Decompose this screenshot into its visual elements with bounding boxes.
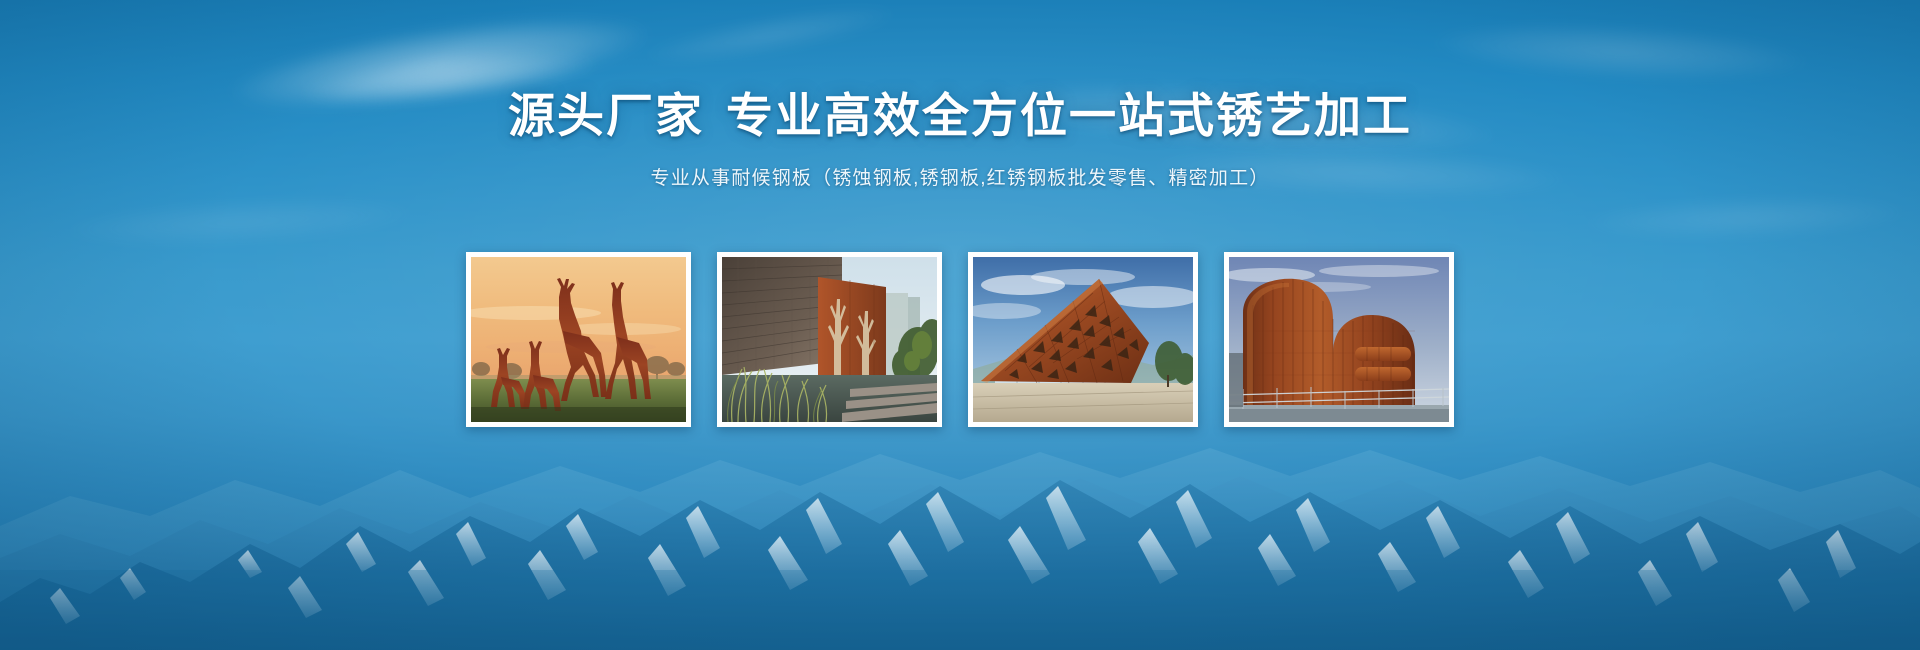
photo-frame <box>1229 257 1449 422</box>
image-corten-angular-pavilion <box>973 257 1193 422</box>
photo-frame <box>722 257 937 422</box>
photo-frame <box>471 257 686 422</box>
wispy-cloud <box>1579 192 1910 243</box>
image-corten-deer-sculptures <box>471 257 686 422</box>
hero-banner: 源头厂家专业高效全方位一站式锈艺加工 专业从事耐候钢板（锈蚀钢板,锈钢板,红锈钢… <box>0 0 1920 650</box>
gallery-item-corten-angular-pavilion[interactable] <box>968 252 1198 427</box>
image-corten-garden-wall <box>722 257 937 422</box>
page-subtitle: 专业从事耐候钢板（锈蚀钢板,锈钢板,红锈钢板批发零售、精密加工） <box>0 143 1920 190</box>
image-corten-curved-building <box>1229 257 1449 422</box>
headline-part-1: 源头厂家 <box>508 89 704 142</box>
headline-part-2: 专业高效全方位一站式锈艺加工 <box>726 89 1412 142</box>
gallery-item-corten-garden-wall[interactable] <box>717 252 942 427</box>
gallery-item-corten-curved-building[interactable] <box>1224 252 1454 427</box>
banner-text-block: 源头厂家专业高效全方位一站式锈艺加工 专业从事耐候钢板（锈蚀钢板,锈钢板,红锈钢… <box>0 0 1920 190</box>
product-gallery <box>466 252 1454 427</box>
page-title: 源头厂家专业高效全方位一站式锈艺加工 <box>0 0 1920 143</box>
wispy-cloud <box>59 191 421 254</box>
gallery-item-corten-deer-sculptures[interactable] <box>466 252 691 427</box>
photo-frame <box>973 257 1193 422</box>
